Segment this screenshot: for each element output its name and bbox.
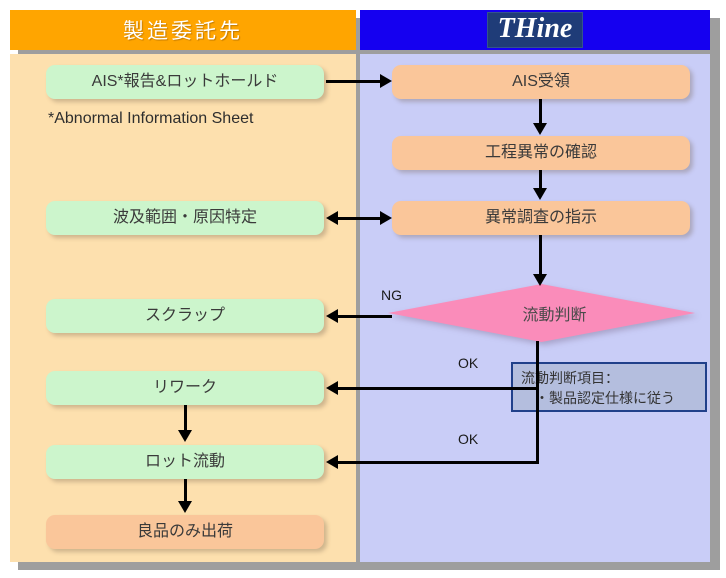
- arrowhead-process-check: [533, 123, 547, 135]
- arrowhead-scope-cause-left: [326, 211, 338, 225]
- connector-rework-to-lot-flow: [184, 405, 187, 432]
- node-scope-cause-label: 波及範囲・原因特定: [113, 208, 257, 227]
- connector-decision-ok-trunk: [536, 341, 539, 464]
- arrowhead-scrap: [326, 309, 338, 323]
- connector-ok-to-lot-flow: [336, 461, 538, 464]
- flowchart-canvas: 製造委託先 THine AIS*報告&ロットホールド *Abnormal Inf…: [0, 0, 726, 578]
- node-ship-good-only[interactable]: 良品のみ出荷: [46, 515, 324, 549]
- node-scope-cause[interactable]: 波及範囲・原因特定: [46, 201, 324, 235]
- node-ship-good-only-label: 良品のみ出荷: [137, 522, 233, 541]
- edge-label-ok-lotflow: OK: [458, 431, 478, 447]
- node-ais-report[interactable]: AIS*報告&ロットホールド: [46, 65, 324, 99]
- node-ais-receive-label: AIS受領: [512, 72, 570, 91]
- node-scrap-label: スクラップ: [145, 306, 225, 325]
- arrowhead-rework: [326, 381, 338, 395]
- connector-investigation-to-scope-cause: [336, 217, 386, 220]
- arrowhead-ship-good-only: [178, 501, 192, 513]
- node-rework-label: リワーク: [153, 378, 217, 397]
- thine-logo-text: THine: [498, 13, 573, 44]
- connector-ais-receive-to-process-check: [539, 99, 542, 125]
- note-line-2: ・製品認定仕様に従う: [521, 388, 699, 408]
- header-right-thine: THine: [360, 10, 710, 50]
- footnote-abnormal-information-sheet: *Abnormal Information Sheet: [48, 110, 253, 128]
- decision-flow-judgement-label: 流動判断: [388, 284, 695, 342]
- edge-label-ng: NG: [381, 287, 402, 303]
- node-investigation-order-label: 異常調査の指示: [485, 208, 597, 227]
- node-lot-flow-label: ロット流動: [145, 452, 225, 471]
- arrowhead-investigation-right: [380, 211, 392, 225]
- arrowhead-ais-receive: [380, 74, 392, 88]
- header-left-manufacturing-partner: 製造委託先: [10, 10, 356, 50]
- note-flow-judgement-criteria: 流動判断項目： ・製品認定仕様に従う: [511, 362, 707, 412]
- arrowhead-investigation-order: [533, 188, 547, 200]
- header-left-title: 製造委託先: [123, 15, 243, 45]
- node-scrap[interactable]: スクラップ: [46, 299, 324, 333]
- connector-decision-ng-to-scrap: [336, 315, 392, 318]
- connector-lot-flow-to-ship: [184, 479, 187, 503]
- connector-ais-report-to-receive: [326, 80, 382, 83]
- node-process-abnormal-check-label: 工程異常の確認: [485, 143, 597, 162]
- decision-flow-judgement[interactable]: 流動判断: [388, 284, 695, 342]
- arrowhead-decision: [533, 274, 547, 286]
- node-ais-report-label: AIS*報告&ロットホールド: [92, 72, 279, 91]
- node-investigation-order[interactable]: 異常調査の指示: [392, 201, 690, 235]
- arrowhead-lot-flow-down: [178, 430, 192, 442]
- node-process-abnormal-check[interactable]: 工程異常の確認: [392, 136, 690, 170]
- connector-ok-to-rework: [336, 387, 538, 390]
- thine-logo: THine: [487, 12, 584, 47]
- node-rework[interactable]: リワーク: [46, 371, 324, 405]
- node-ais-receive[interactable]: AIS受領: [392, 65, 690, 99]
- arrowhead-lot-flow: [326, 455, 338, 469]
- note-line-1: 流動判断項目：: [521, 368, 699, 388]
- edge-label-ok-rework: OK: [458, 355, 478, 371]
- connector-investigation-to-decision: [539, 235, 542, 277]
- connector-process-check-to-investigation: [539, 170, 542, 190]
- node-lot-flow[interactable]: ロット流動: [46, 445, 324, 479]
